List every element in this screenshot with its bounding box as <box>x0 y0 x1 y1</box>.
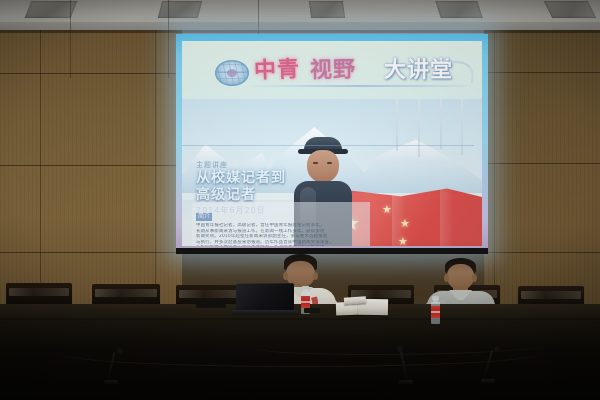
laptop <box>236 283 294 312</box>
slide-photo-band: ★ ★ ★ ★ ★ <box>182 99 482 246</box>
slide-title-part-a: 中青 <box>253 55 300 87</box>
lecture-hall-photo: 中青 视野 大讲堂 <box>0 0 600 400</box>
flagpole <box>396 99 398 151</box>
wall-ceiling-shadow-line <box>0 30 600 33</box>
laptop-base <box>232 310 298 315</box>
university-circular-emblem-icon <box>215 60 249 86</box>
ear <box>472 274 477 282</box>
bottle-label <box>301 296 310 308</box>
microphone-base <box>399 380 413 384</box>
ear <box>313 272 318 280</box>
microphone-head <box>117 348 123 354</box>
ceiling-vent-icon <box>309 1 345 18</box>
title-underline-swash <box>252 85 467 87</box>
wall-panel-right <box>484 30 600 330</box>
microphone-head <box>397 346 403 352</box>
slide-body-tag: 简介 <box>196 213 212 221</box>
microphone-base <box>481 379 495 383</box>
ceiling-vent-icon <box>435 1 483 18</box>
slide-body-line: 在校园媒体人才培养方面有丰富经验，多次受邀为高校学生授课。 <box>196 245 366 246</box>
flag-star-icon: ★ <box>400 217 410 232</box>
flag-fold <box>440 187 454 246</box>
microphone-head <box>494 346 500 352</box>
flagpole <box>418 99 420 157</box>
slide-header-band: 中青 视野 大讲堂 <box>182 41 482 99</box>
slide-subtitle-line-1: 从校媒记者到 <box>196 170 346 187</box>
flag-star-icon: ★ <box>378 245 388 246</box>
slide-title: 中青 视野 大讲堂 <box>252 55 474 89</box>
flag-star-icon: ★ <box>382 203 392 218</box>
microphone-base <box>104 380 118 384</box>
flag-star-icon: ★ <box>398 235 408 246</box>
ceiling-vent-icon <box>544 1 596 18</box>
chair <box>92 284 160 306</box>
ceiling-vent-icon <box>158 1 202 18</box>
mouse-pad <box>196 300 226 308</box>
projection-screen: 中青 视野 大讲堂 <box>176 34 488 254</box>
small-remote-device <box>304 308 320 313</box>
chair <box>6 283 72 305</box>
flagpole <box>461 99 463 155</box>
title-arc-swash <box>437 59 475 83</box>
slide-horizontal-rule <box>182 145 474 146</box>
ear <box>444 274 449 282</box>
ear <box>283 272 288 280</box>
slide-subtitle-kicker: 主题讲座 <box>196 161 346 170</box>
slide-body-text-panel: 简介 中国青年报社记者，高级记者，曾任中国青年报驻站记者多年， 长期从事新闻采访… <box>192 202 370 246</box>
bottle-label <box>431 306 440 318</box>
flagpole <box>440 99 442 149</box>
slide-title-part-b: 视野 <box>310 56 357 87</box>
paper-stacks <box>336 297 388 316</box>
projected-slide: 中青 视野 大讲堂 <box>182 41 482 246</box>
